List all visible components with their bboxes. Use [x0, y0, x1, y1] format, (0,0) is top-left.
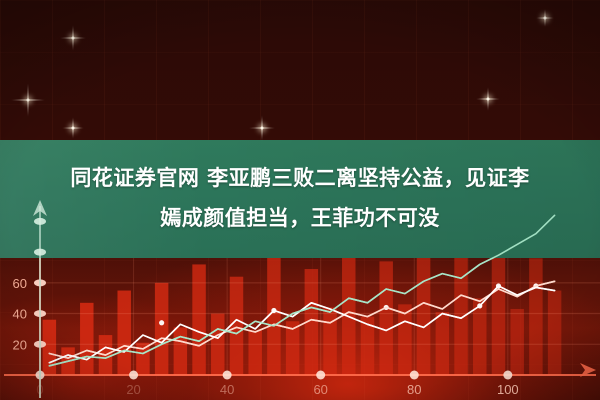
banner-image: 20406080100020406080100 同花证券官网 李亚鹏三败二离坚持… [0, 0, 600, 400]
vignette-overlay [0, 0, 600, 400]
